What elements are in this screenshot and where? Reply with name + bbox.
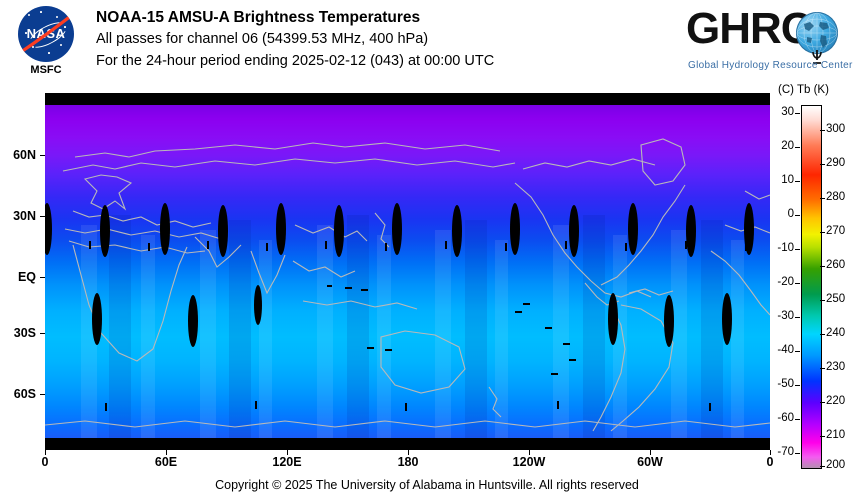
colorbar-gradient[interactable] — [801, 105, 822, 469]
ghrc-logo: GHRC Global Hydrology Resource Center — [686, 4, 846, 76]
x-tick-label: 60W — [630, 455, 670, 469]
cb-kelvin-label: 280 — [826, 191, 854, 203]
cb-kelvin-label: 230 — [826, 361, 854, 373]
cb-kelvin-label: 200 — [826, 459, 854, 471]
cb-kelvin-label: 220 — [826, 395, 854, 407]
cb-celsius-label: -20 — [770, 276, 794, 288]
y-tick-label: 30N — [0, 209, 36, 223]
cb-kelvin-label: 270 — [826, 225, 854, 237]
cb-kelvin-label: 260 — [826, 259, 854, 271]
cb-celsius-label: 20 — [770, 140, 794, 152]
nasa-swoosh-icon — [18, 8, 74, 60]
subtitle-period: For the 24-hour period ending 2025-02-12… — [96, 50, 494, 72]
cb-celsius-label: 30 — [770, 106, 794, 118]
subtitle-channel: All passes for channel 06 (54399.53 MHz,… — [96, 28, 494, 50]
cb-kelvin-label: 210 — [826, 429, 854, 441]
data-gap-overlay — [45, 105, 770, 438]
cb-celsius-label: -60 — [770, 412, 794, 424]
x-tick-label: 60E — [146, 455, 186, 469]
page-title: NOAA-15 AMSU-A Brightness Temperatures — [96, 8, 494, 28]
ghrc-tagline: Global Hydrology Resource Center — [688, 60, 853, 71]
cb-celsius-label: 0 — [770, 208, 794, 220]
y-tick-label: EQ — [0, 270, 36, 284]
cb-kelvin-label: 240 — [826, 327, 854, 339]
cb-kelvin-label: 300 — [826, 123, 854, 135]
map-data-raster — [45, 105, 770, 438]
cb-kelvin-label: 250 — [826, 293, 854, 305]
cb-celsius-label: -30 — [770, 310, 794, 322]
y-tick-label: 60N — [0, 148, 36, 162]
msfc-label: MSFC — [10, 64, 82, 76]
cb-celsius-label: -50 — [770, 378, 794, 390]
cb-celsius-label: -40 — [770, 344, 794, 356]
cb-celsius-label: -70 — [770, 446, 794, 458]
nasa-logo: NASA MSFC — [10, 6, 80, 78]
y-tick-label: 30S — [0, 326, 36, 340]
copyright-notice: Copyright © 2025 The University of Alaba… — [0, 478, 854, 492]
y-tick-label: 60S — [0, 387, 36, 401]
cb-kelvin-label: 290 — [826, 157, 854, 169]
cb-celsius-label: -10 — [770, 242, 794, 254]
x-tick-label: 120E — [267, 455, 307, 469]
brightness-temperature-map[interactable] — [45, 93, 770, 450]
x-tick-label: 180 — [388, 455, 428, 469]
globe-icon — [796, 12, 838, 54]
cb-celsius-label: 10 — [770, 174, 794, 186]
x-tick-label: 120W — [509, 455, 549, 469]
x-tick-label: 0 — [25, 455, 65, 469]
nasa-meatball-icon: NASA — [18, 6, 74, 62]
colorbar-header: (C) Tb (K) — [778, 84, 829, 96]
title-block: NOAA-15 AMSU-A Brightness Temperatures A… — [96, 8, 494, 72]
ghrc-wordmark: GHRC — [686, 4, 812, 54]
